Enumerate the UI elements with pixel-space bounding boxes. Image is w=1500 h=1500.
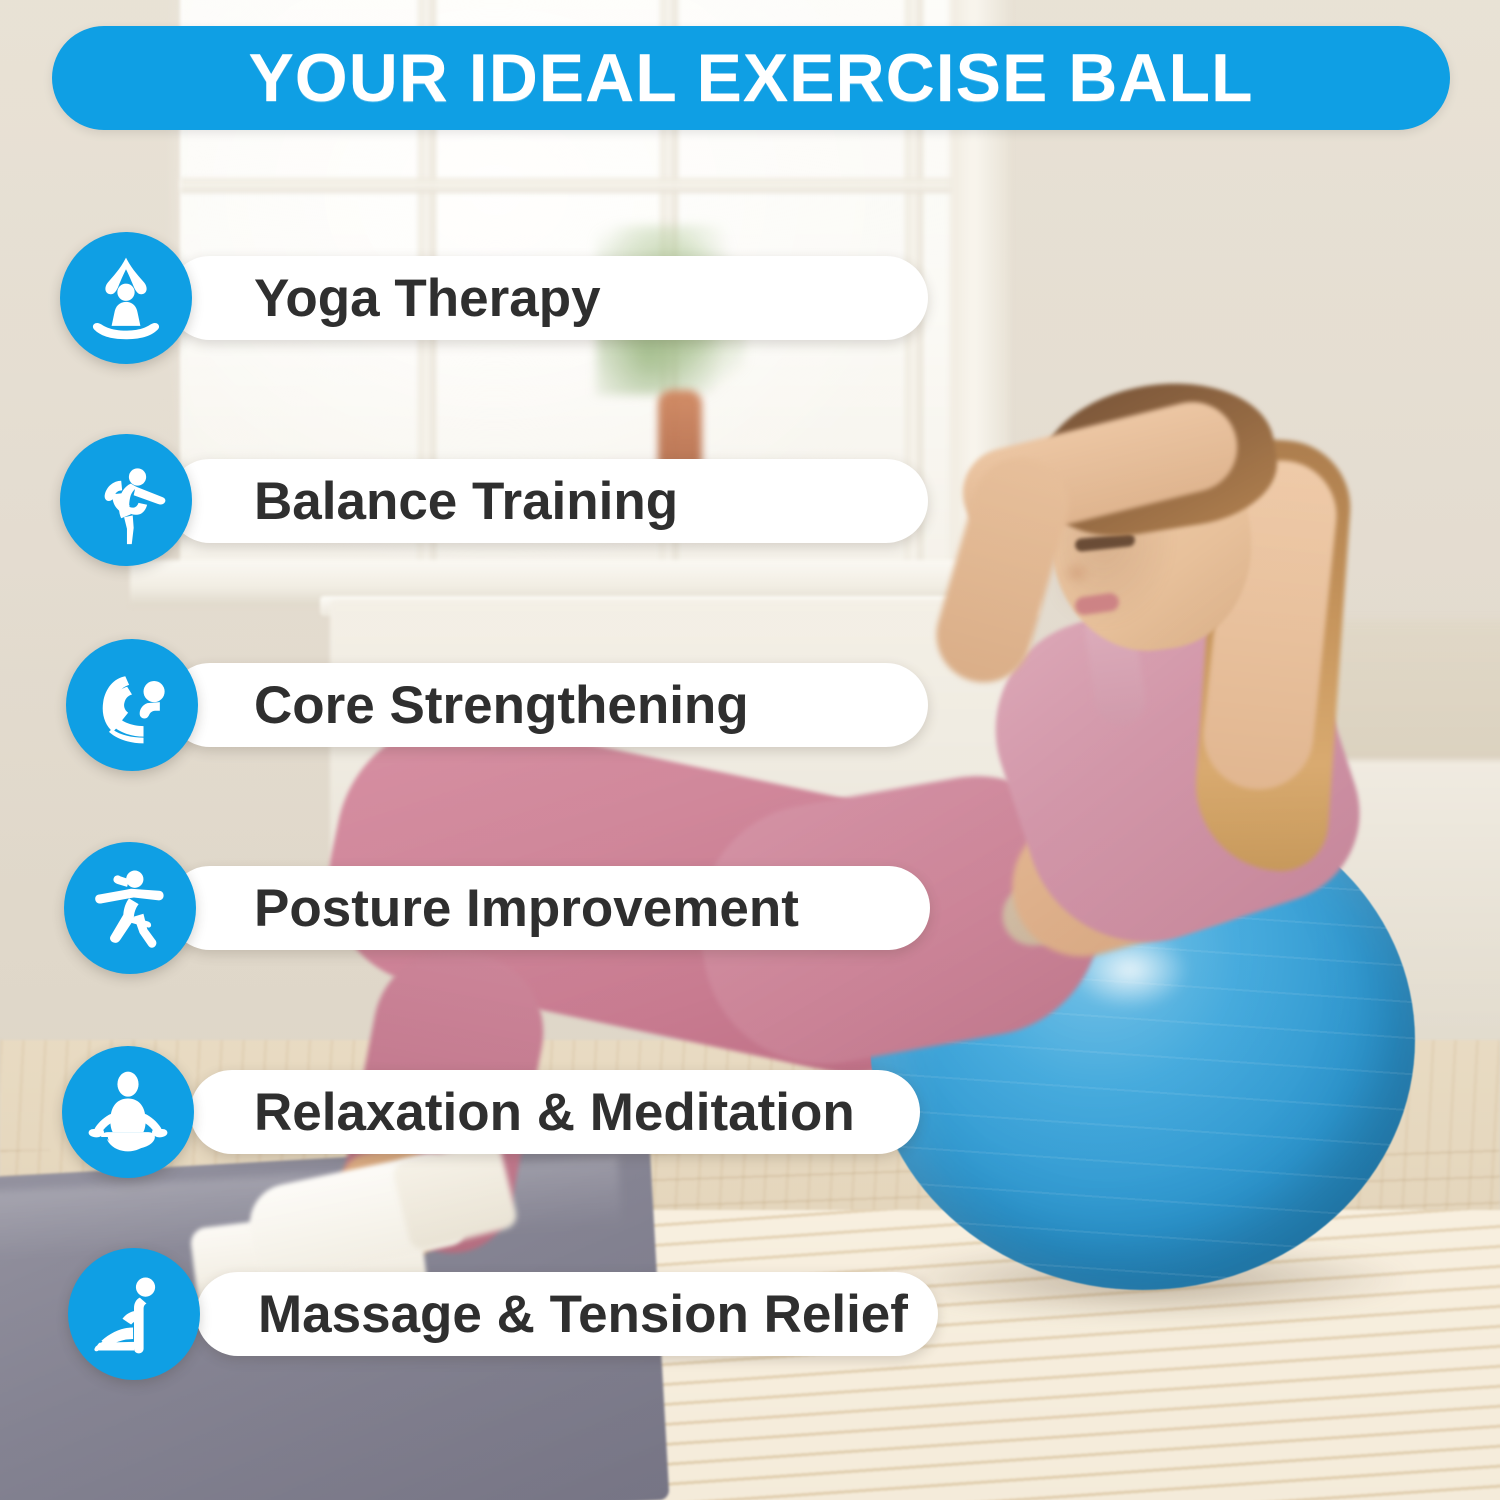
feature-badge-balance-training[interactable]: [60, 434, 192, 566]
crunch-situp-icon: [84, 657, 180, 753]
feature-pill-posture-improvement[interactable]: Posture Improvement: [168, 866, 930, 950]
feature-label: Balance Training: [254, 475, 678, 528]
feature-label: Core Strengthening: [254, 679, 749, 732]
seated-meditation-icon: [80, 1064, 176, 1160]
feature-label: Yoga Therapy: [254, 272, 601, 325]
infographic-canvas: YOUR IDEAL EXERCISE BALL Yoga Therapy Ba…: [0, 0, 1500, 1500]
feature-badge-relaxation[interactable]: [62, 1046, 194, 1178]
feature-label: Relaxation & Meditation: [254, 1086, 855, 1139]
feature-pill-core-strengthening[interactable]: Core Strengthening: [168, 663, 928, 747]
lotus-arms-raised-icon: [78, 250, 174, 346]
feature-pill-balance-training[interactable]: Balance Training: [168, 459, 928, 543]
feature-label: Massage & Tension Relief: [258, 1288, 908, 1341]
feature-pill-relaxation[interactable]: Relaxation & Meditation: [190, 1070, 920, 1154]
warrior-pose-icon: [82, 860, 178, 956]
feature-pill-yoga-therapy[interactable]: Yoga Therapy: [168, 256, 928, 340]
feature-pill-massage-relief[interactable]: Massage & Tension Relief: [196, 1272, 938, 1356]
feature-list: Yoga Therapy Balance Training: [0, 0, 1500, 1500]
feature-badge-posture-improvement[interactable]: [64, 842, 196, 974]
feature-badge-yoga-therapy[interactable]: [60, 232, 192, 364]
dancer-pose-icon: [78, 452, 174, 548]
massage-therapy-icon: [86, 1266, 182, 1362]
feature-badge-core-strengthening[interactable]: [66, 639, 198, 771]
feature-badge-massage-relief[interactable]: [68, 1248, 200, 1380]
feature-label: Posture Improvement: [254, 882, 799, 935]
